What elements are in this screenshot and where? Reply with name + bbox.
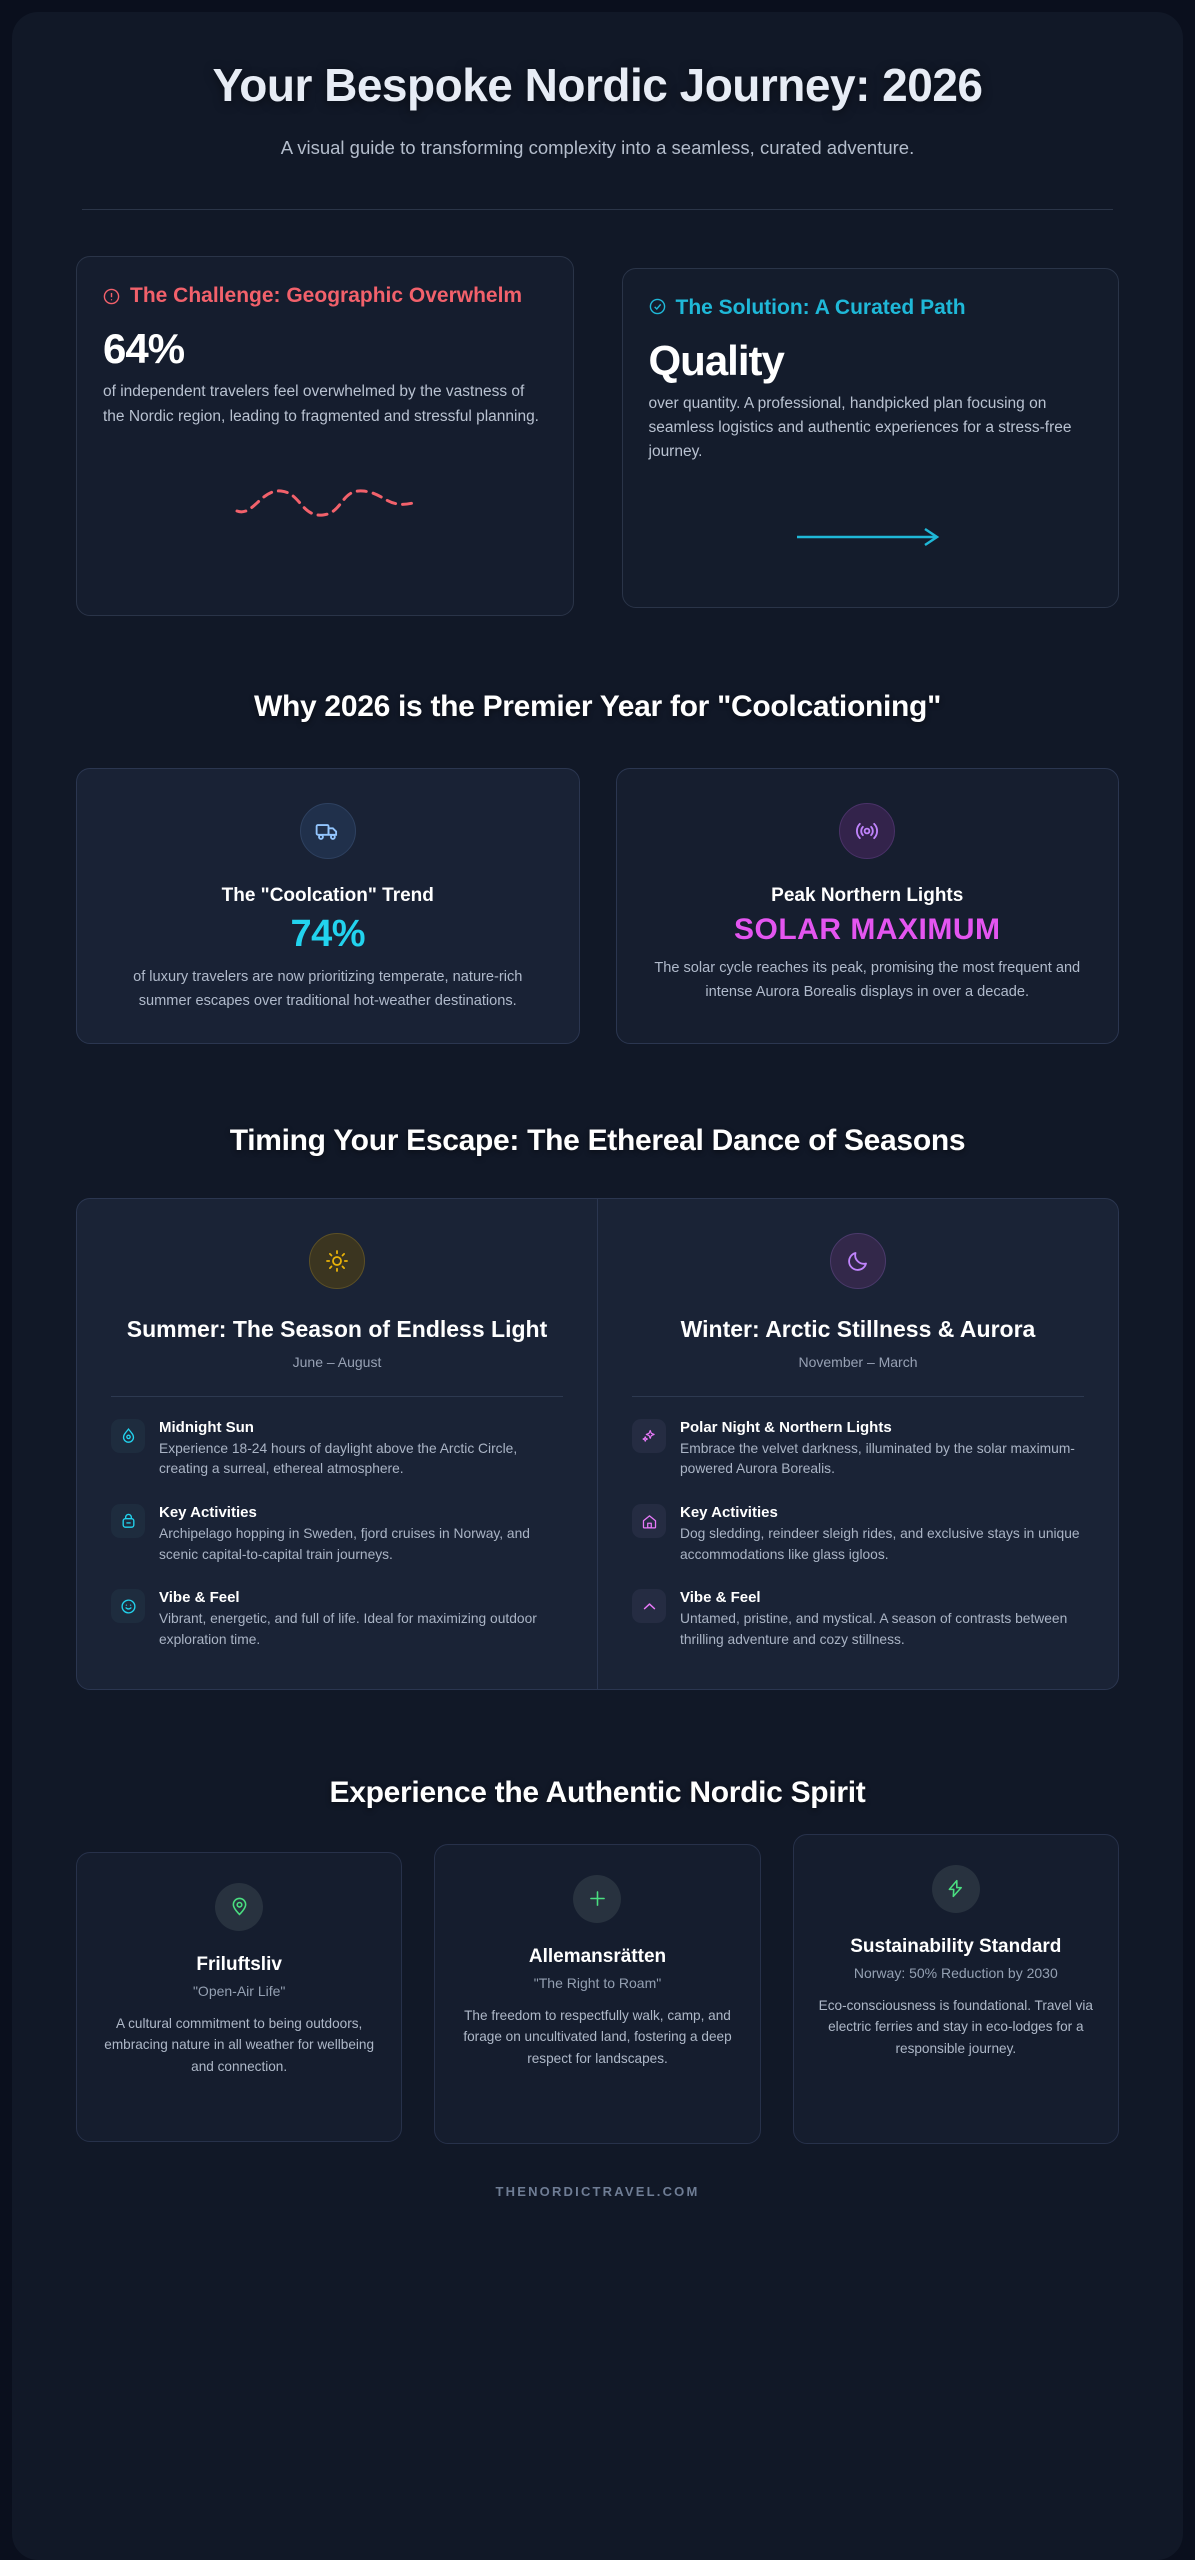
summer-column: Summer: The Season of Endless Light June…	[77, 1199, 598, 1689]
summer-feature-name: Vibe & Feel	[159, 1589, 563, 1606]
smile-icon	[111, 1589, 145, 1623]
winter-feature-item: Vibe & Feel Untamed, pristine, and mysti…	[632, 1589, 1084, 1650]
solution-body: over quantity. A professional, handpicke…	[649, 392, 1093, 465]
header-divider	[82, 209, 1113, 210]
coolcation-title: The "Coolcation" Trend	[107, 885, 549, 907]
spirit-section: Experience the Authentic Nordic Spirit F…	[12, 1776, 1183, 2199]
summer-feature-name: Midnight Sun	[159, 1419, 563, 1436]
winter-feature-name: Polar Night & Northern Lights	[680, 1419, 1084, 1436]
challenge-body: of independent travelers feel overwhelme…	[103, 380, 547, 429]
challenge-heading: The Challenge: Geographic Overwhelm	[130, 283, 522, 309]
summer-feature-item: Midnight Sun Experience 18-24 hours of d…	[111, 1419, 563, 1480]
check-circle-icon	[649, 298, 666, 320]
footer-url: THENORDICTRAVEL.COM	[76, 2184, 1119, 2199]
allemansratten-card: Allemansrätten "The Right to Roam" The f…	[434, 1844, 760, 2144]
friluftsliv-body: A cultural commitment to being outdoors,…	[99, 2013, 379, 2078]
summer-divider	[111, 1396, 563, 1397]
seasons-section: Timing Your Escape: The Ethereal Dance o…	[12, 1124, 1183, 1690]
solution-stat: Quality	[649, 340, 1093, 382]
bolt-icon	[932, 1865, 980, 1913]
allemansratten-title: Allemansrätten	[457, 1945, 737, 1969]
sustainability-title: Sustainability Standard	[816, 1935, 1096, 1959]
squiggle-graphic-wrap	[103, 481, 547, 526]
summer-feature-name: Key Activities	[159, 1504, 563, 1521]
sustainability-body: Eco-consciousness is foundational. Trave…	[816, 1995, 1096, 2060]
summer-feature-desc: Vibrant, energetic, and full of life. Id…	[159, 1609, 563, 1650]
hero-section: Your Bespoke Nordic Journey: 2026 A visu…	[12, 12, 1183, 210]
why-2026-section: Why 2026 is the Premier Year for "Coolca…	[12, 690, 1183, 1044]
winter-range: November – March	[632, 1354, 1084, 1370]
friluftsliv-card: Friluftsliv "Open-Air Life" A cultural c…	[76, 1852, 402, 2142]
winter-feature-item: Key Activities Dog sledding, reindeer sl…	[632, 1504, 1084, 1565]
truck-icon	[300, 803, 356, 859]
solution-card: The Solution: A Curated Path Quality ove…	[622, 268, 1120, 608]
winter-feature-desc: Embrace the velvet darkness, illuminated…	[680, 1439, 1084, 1480]
solution-heading: The Solution: A Curated Path	[676, 295, 966, 321]
sparkles-icon	[632, 1419, 666, 1453]
moon-icon	[830, 1233, 886, 1289]
challenge-solution-section: The Challenge: Geographic Overwhelm 64% …	[12, 256, 1183, 616]
winter-feature-name: Key Activities	[680, 1504, 1084, 1521]
sustainability-card: Sustainability Standard Norway: 50% Redu…	[793, 1834, 1119, 2144]
chevron-up-icon	[632, 1589, 666, 1623]
coolcation-card: The "Coolcation" Trend 74% of luxury tra…	[76, 768, 580, 1044]
seasons-section-title: Timing Your Escape: The Ethereal Dance o…	[76, 1124, 1119, 1158]
plus-icon	[573, 1875, 621, 1923]
northern-lights-stat: SOLAR MAXIMUM	[647, 913, 1089, 947]
alert-circle-icon	[103, 288, 120, 310]
summer-feature-item: Key Activities Archipelago hopping in Sw…	[111, 1504, 563, 1565]
backpack-icon	[111, 1504, 145, 1538]
arrow-right-icon	[795, 525, 945, 549]
why-section-title: Why 2026 is the Premier Year for "Coolca…	[76, 690, 1119, 724]
summer-range: June – August	[111, 1354, 563, 1370]
winter-feature-desc: Dog sledding, reindeer sleigh rides, and…	[680, 1524, 1084, 1565]
squiggle-dashed-line-icon	[235, 481, 415, 521]
northern-lights-card: Peak Northern Lights SOLAR MAXIMUM The s…	[616, 768, 1120, 1044]
sun-icon	[309, 1233, 365, 1289]
home-icon	[632, 1504, 666, 1538]
map-pin-icon	[215, 1883, 263, 1931]
northern-lights-title: Peak Northern Lights	[647, 885, 1089, 907]
winter-divider	[632, 1396, 1084, 1397]
winter-feature-item: Polar Night & Northern Lights Embrace th…	[632, 1419, 1084, 1480]
winter-column: Winter: Arctic Stillness & Aurora Novemb…	[598, 1199, 1118, 1689]
challenge-card: The Challenge: Geographic Overwhelm 64% …	[76, 256, 574, 616]
challenge-stat: 64%	[103, 328, 547, 370]
spirit-section-title: Experience the Authentic Nordic Spirit	[76, 1776, 1119, 1810]
sustainability-subtitle: Norway: 50% Reduction by 2030	[816, 1965, 1096, 1981]
summer-feature-desc: Archipelago hopping in Sweden, fjord cru…	[159, 1524, 563, 1565]
summer-feature-item: Vibe & Feel Vibrant, energetic, and full…	[111, 1589, 563, 1650]
winter-feature-name: Vibe & Feel	[680, 1589, 1084, 1606]
friluftsliv-title: Friluftsliv	[99, 1953, 379, 1977]
summer-title: Summer: The Season of Endless Light	[111, 1315, 563, 1344]
page-title: Your Bespoke Nordic Journey: 2026	[82, 60, 1113, 112]
radio-waves-icon	[839, 803, 895, 859]
droplet-icon	[111, 1419, 145, 1453]
coolcation-stat: 74%	[107, 913, 549, 956]
summer-feature-desc: Experience 18-24 hours of daylight above…	[159, 1439, 563, 1480]
page-subtitle: A visual guide to transforming complexit…	[198, 134, 998, 162]
arrow-graphic-wrap	[649, 525, 1093, 554]
allemansratten-body: The freedom to respectfully walk, camp, …	[457, 2005, 737, 2070]
friluftsliv-subtitle: "Open-Air Life"	[99, 1983, 379, 1999]
northern-lights-body: The solar cycle reaches its peak, promis…	[647, 957, 1089, 1004]
infographic-page: Your Bespoke Nordic Journey: 2026 A visu…	[12, 12, 1183, 2560]
winter-title: Winter: Arctic Stillness & Aurora	[632, 1315, 1084, 1344]
coolcation-body: of luxury travelers are now prioritizing…	[107, 966, 549, 1013]
allemansratten-subtitle: "The Right to Roam"	[457, 1975, 737, 1991]
winter-feature-desc: Untamed, pristine, and mystical. A seaso…	[680, 1609, 1084, 1650]
